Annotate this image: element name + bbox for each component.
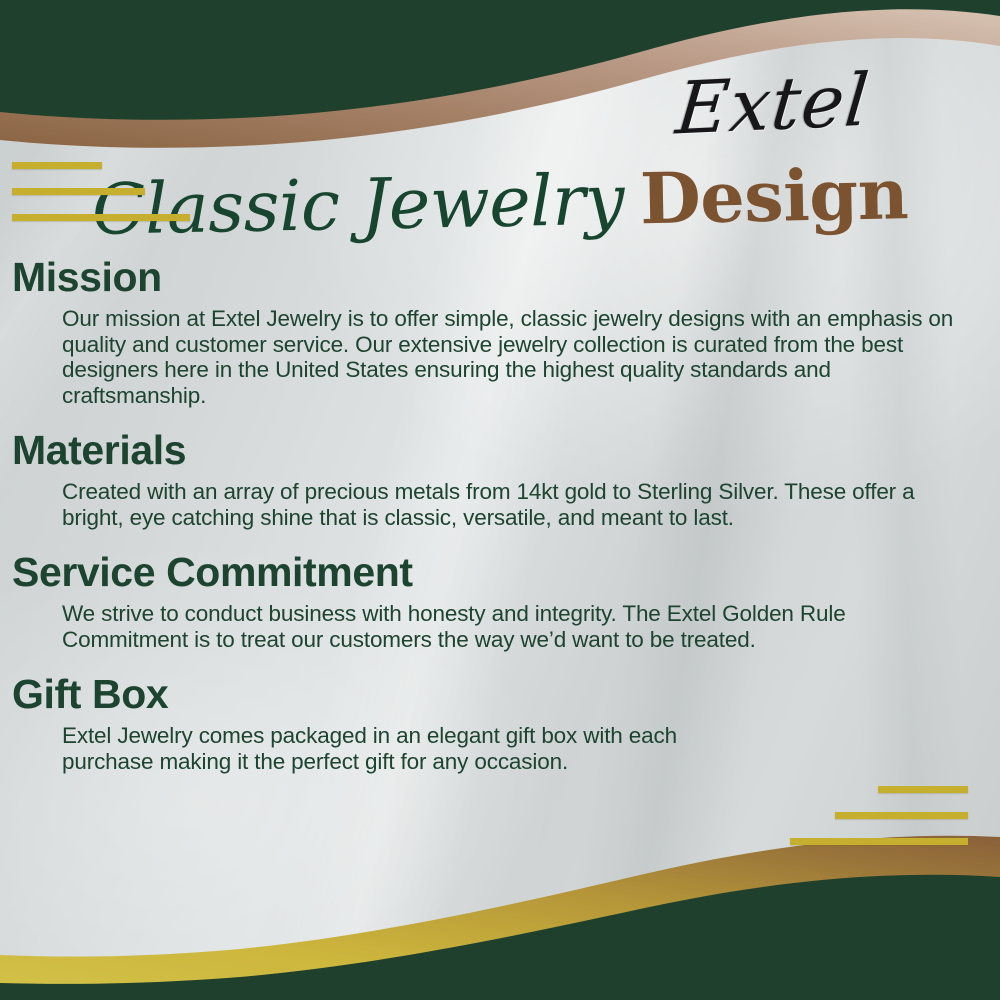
- section-body: We strive to conduct business with hones…: [62, 601, 970, 652]
- section-heading: Mission: [12, 252, 1000, 302]
- section-body: Extel Jewelry comes packaged in an elega…: [62, 723, 760, 774]
- section-paragraph: Extel Jewelry comes packaged in an elega…: [62, 723, 760, 774]
- title-classic-jewelry: Classic Jewelry: [91, 159, 625, 251]
- section-body: Our mission at Extel Jewelry is to offer…: [62, 306, 970, 408]
- brand-logo-extel: Extel: [604, 54, 942, 153]
- section-heading: Materials: [12, 425, 1000, 475]
- section-paragraph: Our mission at Extel Jewelry is to offer…: [62, 306, 970, 408]
- section-gift-box: Gift Box Extel Jewelry comes packaged in…: [0, 669, 1000, 774]
- title-design: Design: [639, 152, 909, 240]
- section-paragraph: Created with an array of precious metals…: [62, 479, 970, 530]
- section-mission: Mission Our mission at Extel Jewelry is …: [0, 252, 1000, 408]
- section-paragraph: We strive to conduct business with hones…: [62, 601, 970, 652]
- section-service-commitment: Service Commitment We strive to conduct …: [0, 547, 1000, 652]
- section-heading: Gift Box: [12, 669, 1000, 719]
- section-body: Created with an array of precious metals…: [62, 479, 970, 530]
- content-sections: Mission Our mission at Extel Jewelry is …: [0, 252, 1000, 791]
- section-materials: Materials Created with an array of preci…: [0, 425, 1000, 530]
- section-heading: Service Commitment: [12, 547, 1000, 597]
- poster-canvas: Extel Classic JewelryDesign Mission Our …: [0, 0, 1000, 1000]
